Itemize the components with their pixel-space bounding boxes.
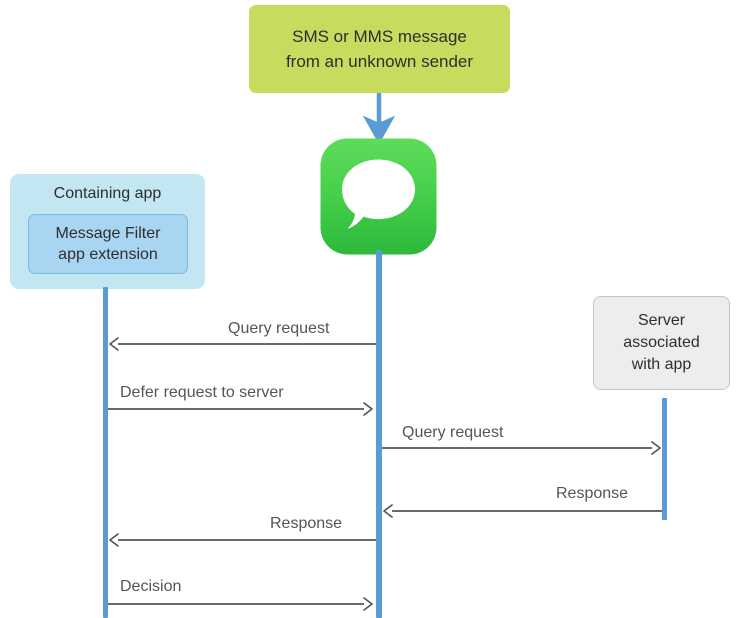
arrow-label-query-request-to-extension: Query request [228, 320, 329, 338]
arrow-decision-to-messages [108, 598, 372, 610]
arrow-response-from-server [384, 505, 662, 517]
arrow-label-response-to-extension: Response [270, 515, 342, 533]
message-filter-extension-label: Message Filter app extension [56, 223, 161, 265]
source-message-box: SMS or MMS message from an unknown sende… [249, 5, 510, 93]
message-filter-extension-box: Message Filter app extension [28, 214, 188, 274]
lifeline-messages-app [376, 250, 382, 618]
lifeline-containing-app [103, 287, 108, 618]
arrow-label-decision: Decision [120, 578, 181, 596]
arrow-defer-request-to-server [108, 403, 372, 415]
containing-app-box: Containing app Message Filter app extens… [10, 174, 205, 289]
containing-app-title: Containing app [10, 185, 205, 203]
arrow-label-defer-request-to-server: Defer request to server [120, 384, 284, 402]
message-filter-sequence-diagram: SMS or MMS message from an unknown sende… [0, 0, 740, 618]
arrow-label-response-from-server: Response [556, 485, 628, 503]
arrow-query-request-to-server [382, 442, 660, 454]
lifeline-server [662, 398, 667, 520]
arrow-query-request-to-extension [110, 338, 376, 350]
arrow-label-query-request-to-server: Query request [402, 424, 503, 442]
server-box: Server associated with app [593, 296, 730, 390]
source-message-label: SMS or MMS message from an unknown sende… [286, 24, 473, 74]
server-label: Server associated with app [623, 310, 700, 376]
arrow-response-to-extension [110, 534, 376, 546]
messages-app-icon [320, 138, 437, 255]
